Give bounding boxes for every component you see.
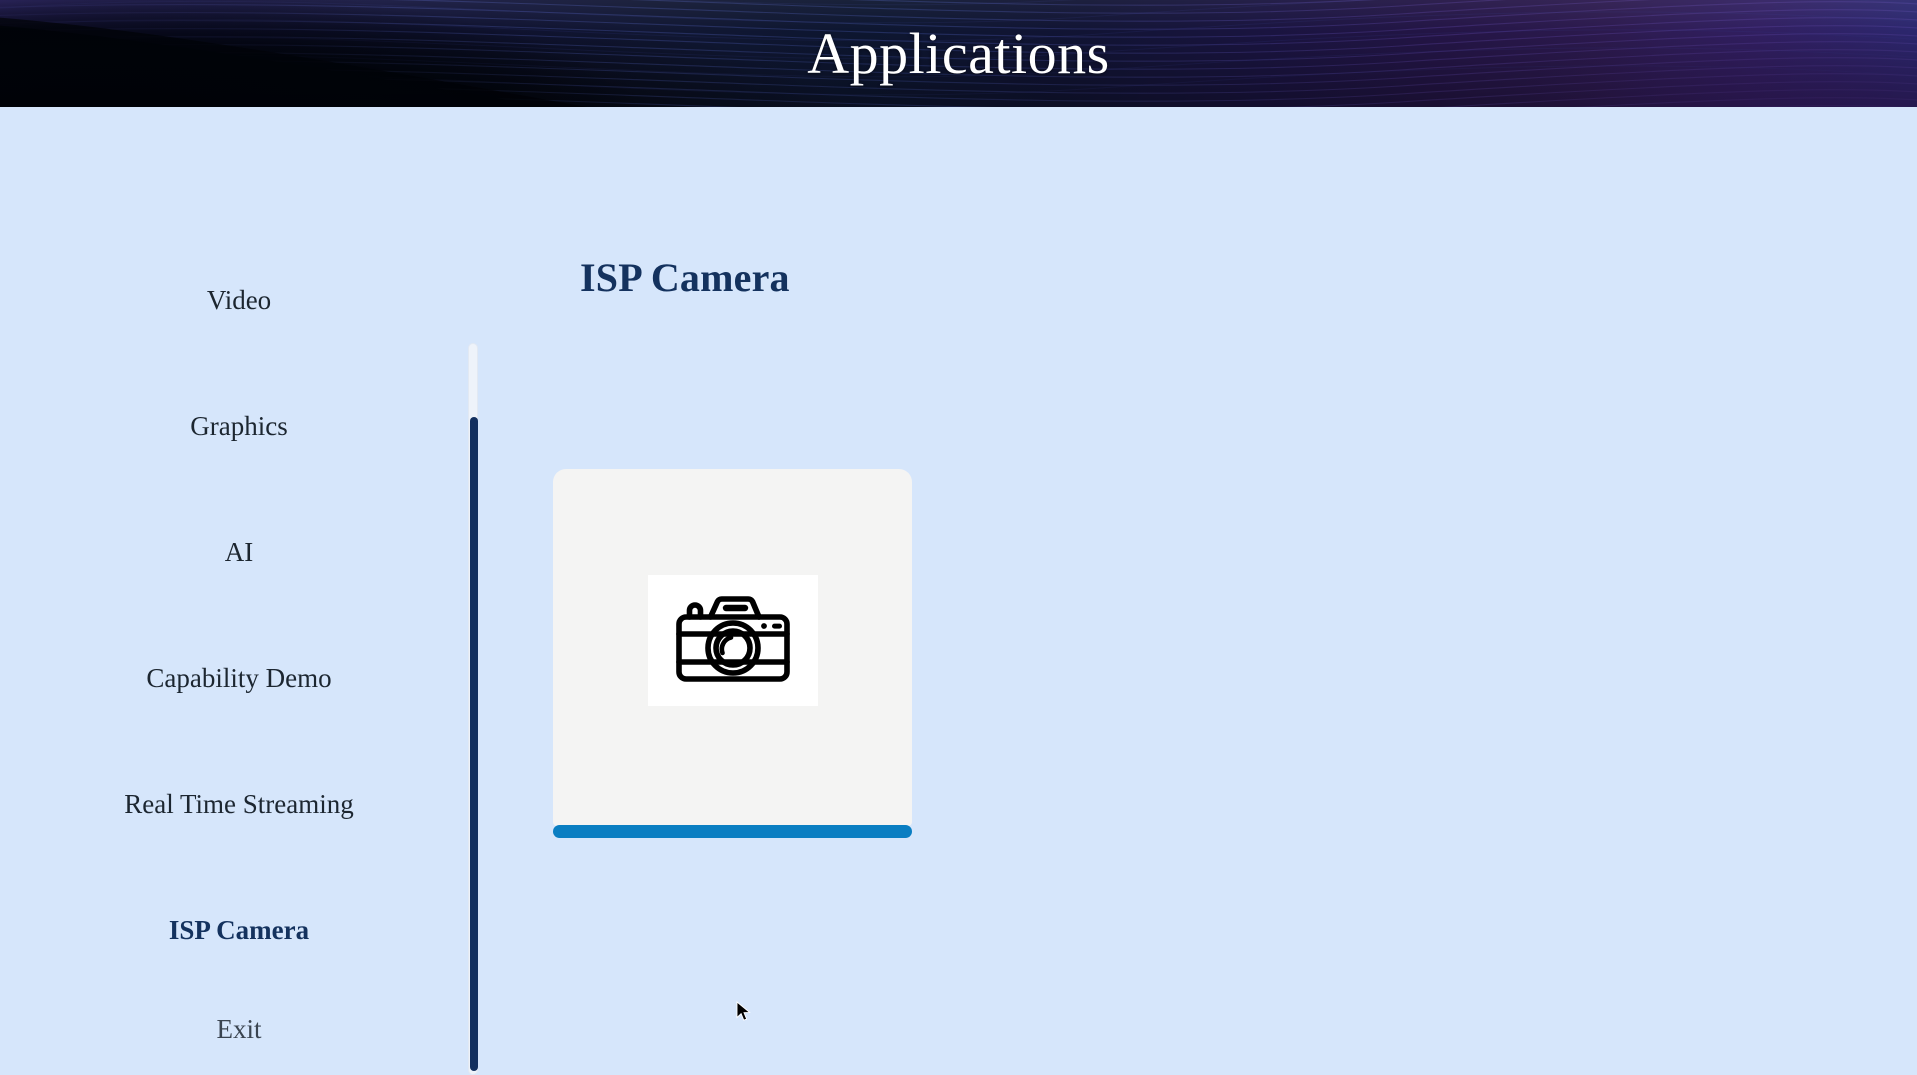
sidebar-item-isp-camera[interactable]: ISP Camera: [0, 867, 478, 993]
sidebar-item-label: ISP Camera: [169, 915, 309, 946]
app-card-isp-camera[interactable]: [553, 469, 912, 826]
sidebar-item-label: Video: [207, 285, 271, 316]
sidebar-item-exit[interactable]: Exit: [0, 993, 478, 1065]
sidebar-item-video[interactable]: Video: [0, 237, 478, 363]
app-header: Applications: [0, 0, 1917, 107]
sidebar-item-capability-demo[interactable]: Capability Demo: [0, 615, 478, 741]
sidebar-item-real-time-streaming[interactable]: Real Time Streaming: [0, 741, 478, 867]
app-card-grid: [490, 237, 1917, 1075]
app-title: Applications: [0, 0, 1917, 107]
camera-indicator-bar: [772, 623, 782, 628]
sidebar-item-label: Capability Demo: [146, 663, 331, 694]
sidebar-item-ai[interactable]: AI: [0, 489, 478, 615]
sidebar-item-label: Exit: [217, 1014, 262, 1045]
sidebar-item-graphics[interactable]: Graphics: [0, 363, 478, 489]
sidebar-item-list: Video Graphics AI Capability Demo Real T…: [0, 237, 478, 1065]
app-card-accent-bar: [553, 825, 912, 838]
page-body: ISP Camera Video Graphics AI Capability …: [0, 107, 1917, 1075]
vertical-scrollbar[interactable]: [466, 343, 480, 1075]
sidebar-item-label: Real Time Streaming: [124, 789, 354, 820]
sidebar-nav: Video Graphics AI Capability Demo Real T…: [0, 237, 478, 1075]
sidebar-item-label: Graphics: [190, 411, 287, 442]
scrollbar-thumb[interactable]: [470, 417, 478, 1071]
camera-indicator-dot: [761, 623, 767, 629]
sidebar-item-label: AI: [225, 537, 254, 568]
app-card-thumbnail: [648, 575, 818, 706]
camera-icon: [669, 591, 797, 691]
